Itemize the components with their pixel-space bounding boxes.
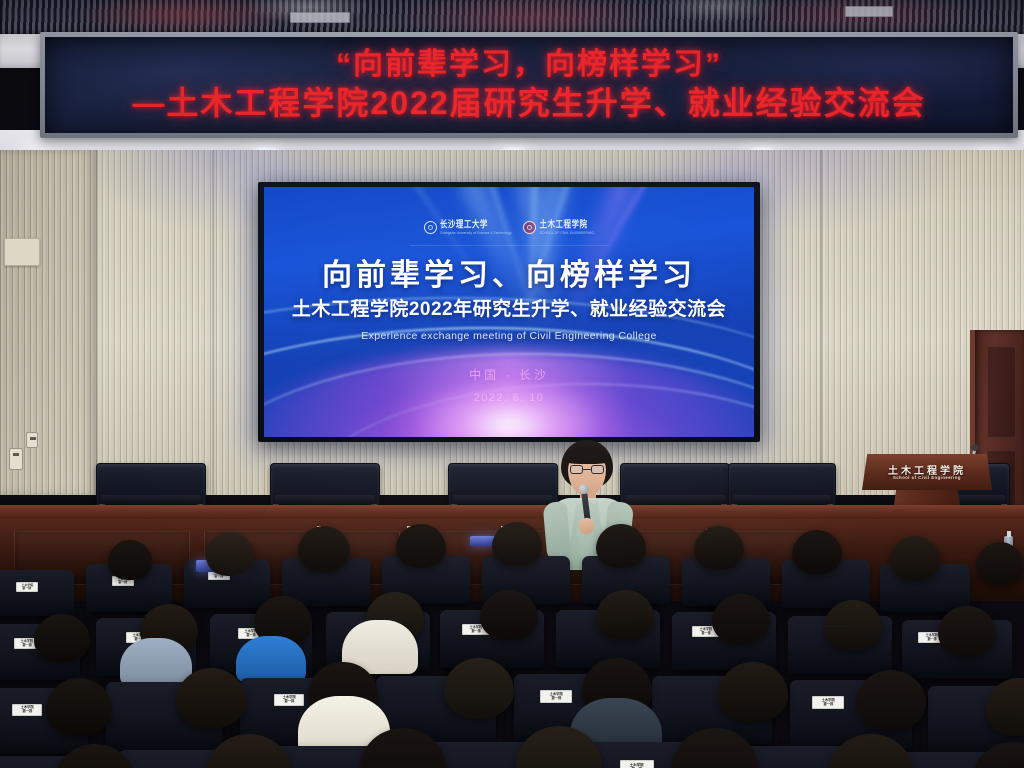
- wall-socket[interactable]: [26, 432, 38, 448]
- audience-head: [480, 590, 538, 640]
- audience-head: [34, 614, 90, 662]
- led-banner: “向前辈学习，向榜样学习” —土木工程学院2022届研究生升学、就业经验交流会: [45, 37, 1013, 133]
- banner-line-2: —土木工程学院2022届研究生升学、就业经验交流会: [132, 83, 925, 123]
- audience-head: [298, 526, 350, 572]
- seat-number-label: 土木学院 第一排: [620, 760, 654, 768]
- audience-head: [792, 530, 842, 574]
- stage-chair[interactable]: [728, 463, 836, 511]
- glasses-icon: [822, 626, 848, 631]
- banner-line-1: “向前辈学习，向榜样学习”: [336, 47, 722, 83]
- lectern-sign-en: School of Civil Engineering: [862, 475, 992, 480]
- left-wall-slat-panel: [0, 150, 96, 495]
- seat-number-label: 土木学院 第一排: [274, 694, 304, 706]
- audience-head: [492, 522, 542, 566]
- university-name-cn: 长沙理工大学: [440, 218, 512, 232]
- ceiling-vent: [845, 6, 893, 17]
- audience-torso: [236, 636, 306, 682]
- audience-head: [46, 678, 112, 736]
- wall-seam: [96, 150, 98, 495]
- audience-head: [890, 536, 940, 580]
- conference-hall-photo: “向前辈学习，向榜样学习” —土木工程学院2022届研究生升学、就业经验交流会: [0, 0, 1024, 768]
- slide-logo-university: 长沙理工大学 Changsha University of Science & …: [424, 219, 512, 235]
- audience-head: [976, 542, 1024, 586]
- door-upper-panel: [987, 346, 1016, 438]
- audience-head: [176, 668, 246, 728]
- seat-number-label: 土木学院 第一排: [812, 696, 844, 709]
- auditorium-seat[interactable]: [0, 570, 74, 616]
- college-emblem-icon: [523, 221, 536, 234]
- college-name-cn: 土木工程学院: [539, 218, 594, 232]
- audience-head: [694, 526, 744, 570]
- audience-head: [712, 594, 770, 644]
- college-name-en: SCHOOL OF CIVIL ENGINEERING: [539, 231, 594, 235]
- audience-head: [938, 606, 996, 656]
- audience-head: [596, 524, 646, 568]
- audience-head: [824, 600, 882, 650]
- seat-number-label: 土木学院 第一排: [12, 704, 42, 716]
- audience-head: [596, 590, 654, 640]
- audience-head: [444, 658, 514, 718]
- stage-chair[interactable]: [270, 463, 380, 511]
- projection-screen-bezel: 长沙理工大学 Changsha University of Science & …: [258, 182, 760, 442]
- slide-glow-core: [391, 365, 626, 437]
- university-emblem-icon: [424, 221, 437, 234]
- slide-title: 向前辈学习、向榜样学习: [264, 257, 754, 295]
- audience-head: [108, 540, 152, 580]
- audience-head: [396, 524, 446, 568]
- seat-number-label: 土木学院 第一排: [540, 690, 572, 703]
- wall-access-plate: [4, 238, 40, 266]
- audience-seating: 土木学院 第一排 土木学院 第一排 土木学院 第一排: [0, 520, 1024, 768]
- slide-logo-row: 长沙理工大学 Changsha University of Science & …: [264, 219, 754, 235]
- ceiling-vent: [290, 12, 350, 23]
- glasses-icon: [570, 465, 604, 474]
- audience-head: [718, 662, 788, 722]
- led-banner-frame: “向前辈学习，向榜样学习” —土木工程学院2022届研究生升学、就业经验交流会: [40, 32, 1018, 138]
- audience-head: [856, 670, 926, 730]
- wall-seam: [820, 150, 822, 495]
- stage-chair[interactable]: [96, 463, 206, 511]
- slide-logo-college: 土木工程学院 SCHOOL OF CIVIL ENGINEERING: [523, 219, 594, 235]
- seat-number-label: 土木学院 第一排: [16, 582, 38, 592]
- projection-screen: 长沙理工大学 Changsha University of Science & …: [264, 187, 754, 437]
- audience-head: [206, 532, 254, 576]
- audience-torso: [120, 638, 192, 686]
- university-name-en: Changsha University of Science & Technol…: [440, 231, 512, 235]
- wall-seam: [212, 150, 214, 495]
